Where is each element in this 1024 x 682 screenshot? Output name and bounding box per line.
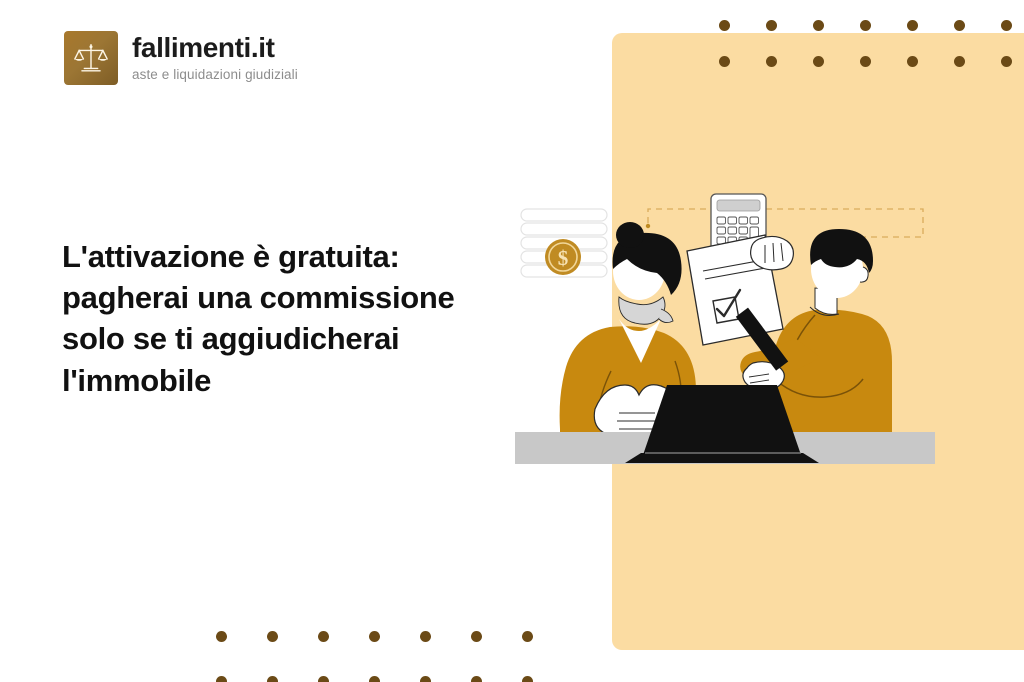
dollar-coin-icon: $ — [545, 239, 581, 275]
dot — [267, 631, 278, 642]
man-hand-top — [751, 236, 794, 269]
brand-title: fallimenti.it — [132, 34, 298, 62]
dot — [420, 631, 431, 642]
dot — [471, 631, 482, 642]
dot — [907, 20, 918, 31]
dot — [369, 631, 380, 642]
dot — [907, 56, 918, 67]
dot — [369, 676, 380, 682]
brand-subtitle: aste e liquidazioni giudiziali — [132, 68, 298, 82]
dot — [954, 56, 965, 67]
dot-row — [216, 631, 573, 642]
scales-of-justice-icon — [64, 31, 118, 85]
dot — [471, 676, 482, 682]
dot — [1001, 56, 1012, 67]
brand-logo-text: fallimenti.it aste e liquidazioni giudiz… — [132, 34, 298, 82]
dot-row — [216, 676, 573, 682]
dot — [813, 20, 824, 31]
dot — [860, 56, 871, 67]
dashed-arrow-path — [648, 209, 923, 237]
dot-row — [719, 56, 1024, 67]
dot — [267, 676, 278, 682]
dot — [860, 20, 871, 31]
decorative-dot-grid-top — [719, 0, 1024, 92]
dot — [216, 676, 227, 682]
dot — [1001, 20, 1012, 31]
two-people-signing-contract-illustration: $ — [515, 185, 935, 475]
dot — [420, 676, 431, 682]
dot — [719, 56, 730, 67]
dot — [216, 631, 227, 642]
dot-row — [719, 20, 1024, 31]
headline-text: L'attivazione è gratuita: pagherai una c… — [62, 236, 482, 401]
decorative-dot-grid-bottom — [216, 631, 573, 682]
dot — [318, 676, 329, 682]
promo-banner: fallimenti.it aste e liquidazioni giudiz… — [0, 0, 1024, 682]
dot — [766, 56, 777, 67]
dot — [719, 20, 730, 31]
dot — [522, 676, 533, 682]
dot — [522, 631, 533, 642]
dot — [766, 20, 777, 31]
dot — [954, 20, 965, 31]
svg-text:$: $ — [558, 246, 569, 270]
dot — [318, 631, 329, 642]
brand-logo[interactable]: fallimenti.it aste e liquidazioni giudiz… — [64, 31, 298, 85]
dot — [813, 56, 824, 67]
